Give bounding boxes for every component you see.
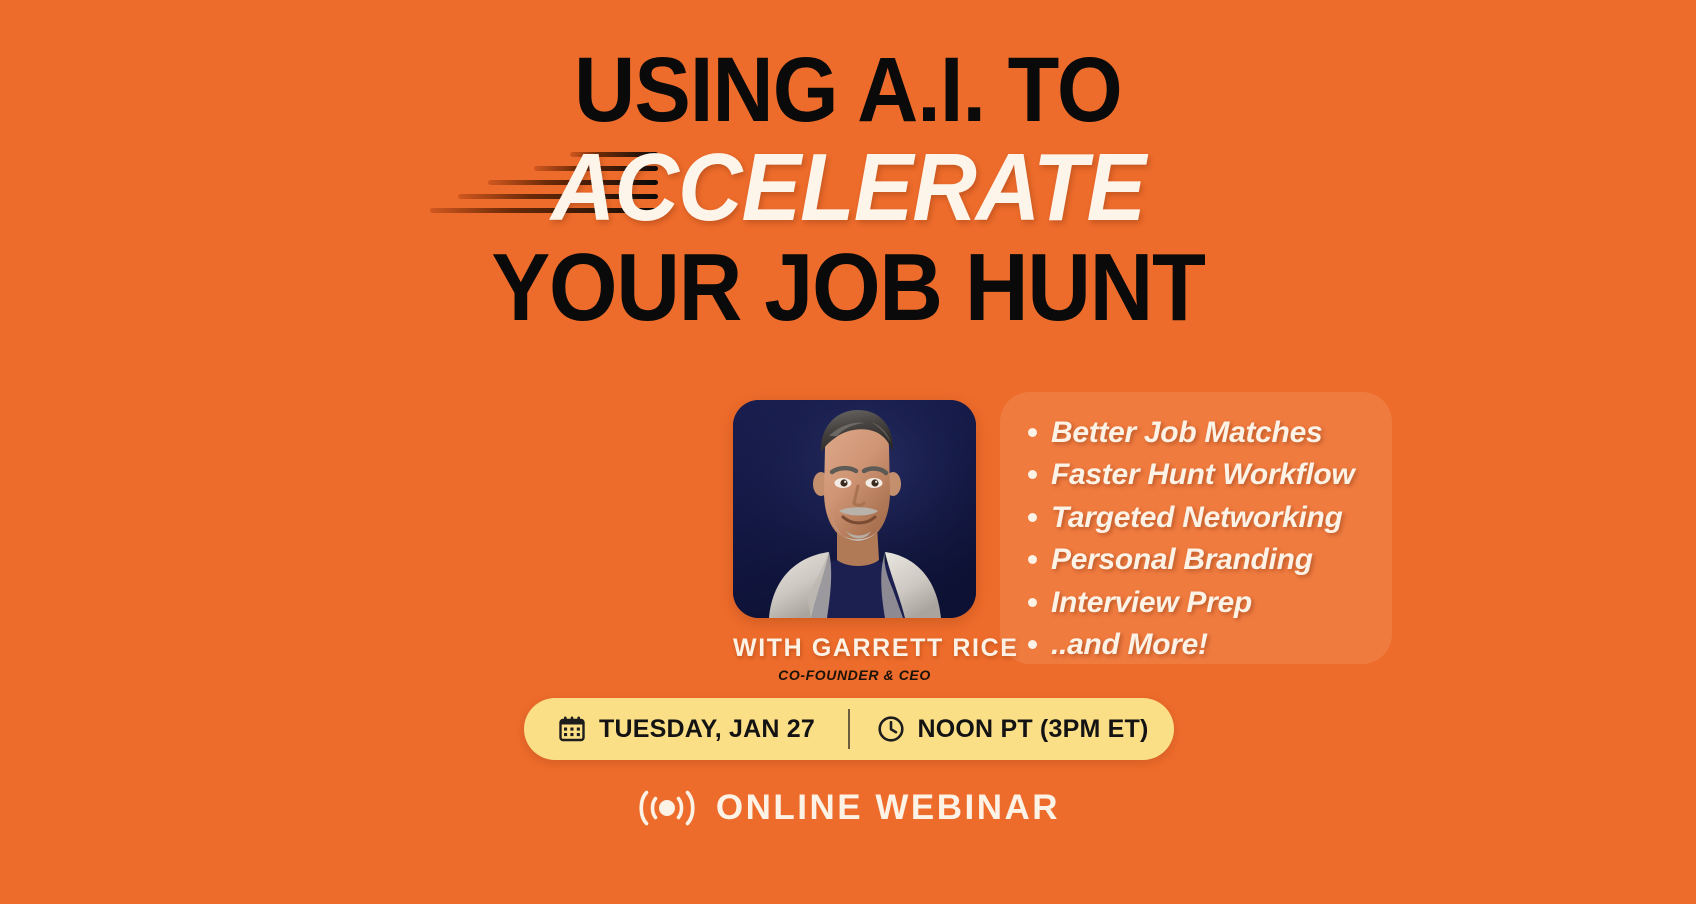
list-item: Targeted Networking	[1022, 499, 1378, 537]
benefit-label: Better Job Matches	[1051, 414, 1322, 452]
list-item: Interview Prep	[1022, 584, 1378, 622]
bullet-dot-icon	[1028, 598, 1037, 607]
list-item: Faster Hunt Workflow	[1022, 456, 1378, 494]
schedule-time-label: NOON PT (3PM ET)	[918, 715, 1149, 744]
broadcast-icon	[636, 786, 698, 830]
speaker-photo	[733, 400, 976, 618]
list-item: Better Job Matches	[1022, 414, 1378, 452]
benefit-label: Interview Prep	[1051, 584, 1252, 622]
list-item: ..and More!	[1022, 626, 1378, 664]
calendar-icon	[557, 714, 587, 744]
footer: ONLINE WEBINAR	[0, 786, 1696, 830]
speaker-name: WITH GARRETT RICE	[733, 634, 976, 663]
benefit-label: Personal Branding	[1051, 541, 1313, 579]
headline-line-2-wrapper: ACCELERATE	[0, 141, 1696, 245]
speaker-block: WITH GARRETT RICE CO-FOUNDER & CEO	[733, 400, 976, 683]
benefits-list: Better Job Matches Faster Hunt Workflow …	[1022, 414, 1378, 668]
footer-label: ONLINE WEBINAR	[716, 788, 1060, 828]
bullet-dot-icon	[1028, 513, 1037, 522]
pill-divider	[848, 709, 850, 749]
bullet-dot-icon	[1028, 640, 1037, 649]
headline: USING A.I. TO ACCELERATE YOUR JOB HUNT	[0, 46, 1696, 334]
list-item: Personal Branding	[1022, 541, 1378, 579]
schedule-date-label: TUESDAY, JAN 27	[599, 715, 815, 744]
schedule-time-segment: NOON PT (3PM ET)	[850, 714, 1174, 744]
benefit-label: ..and More!	[1051, 626, 1208, 664]
schedule-date-segment: TUESDAY, JAN 27	[524, 714, 848, 744]
speaker-portrait-illustration	[733, 400, 976, 618]
bullet-dot-icon	[1028, 555, 1037, 564]
clock-icon	[876, 714, 906, 744]
schedule-pill: TUESDAY, JAN 27 NOON PT (3PM ET)	[524, 698, 1174, 760]
headline-line-1: USING A.I. TO	[68, 46, 1628, 135]
middle-section: WITH GARRETT RICE CO-FOUNDER & CEO Bette…	[0, 392, 1696, 682]
bullet-dot-icon	[1028, 428, 1037, 437]
benefit-label: Targeted Networking	[1051, 499, 1343, 537]
headline-line-2: ACCELERATE	[59, 141, 1636, 234]
benefits-panel: Better Job Matches Faster Hunt Workflow …	[1000, 392, 1392, 664]
bullet-dot-icon	[1028, 470, 1037, 479]
speaker-role: CO-FOUNDER & CEO	[733, 667, 976, 683]
benefit-label: Faster Hunt Workflow	[1051, 456, 1354, 494]
webinar-poster: USING A.I. TO ACCELERATE YOUR JOB HUNT	[0, 0, 1696, 904]
headline-line-3: YOUR JOB HUNT	[68, 241, 1628, 334]
